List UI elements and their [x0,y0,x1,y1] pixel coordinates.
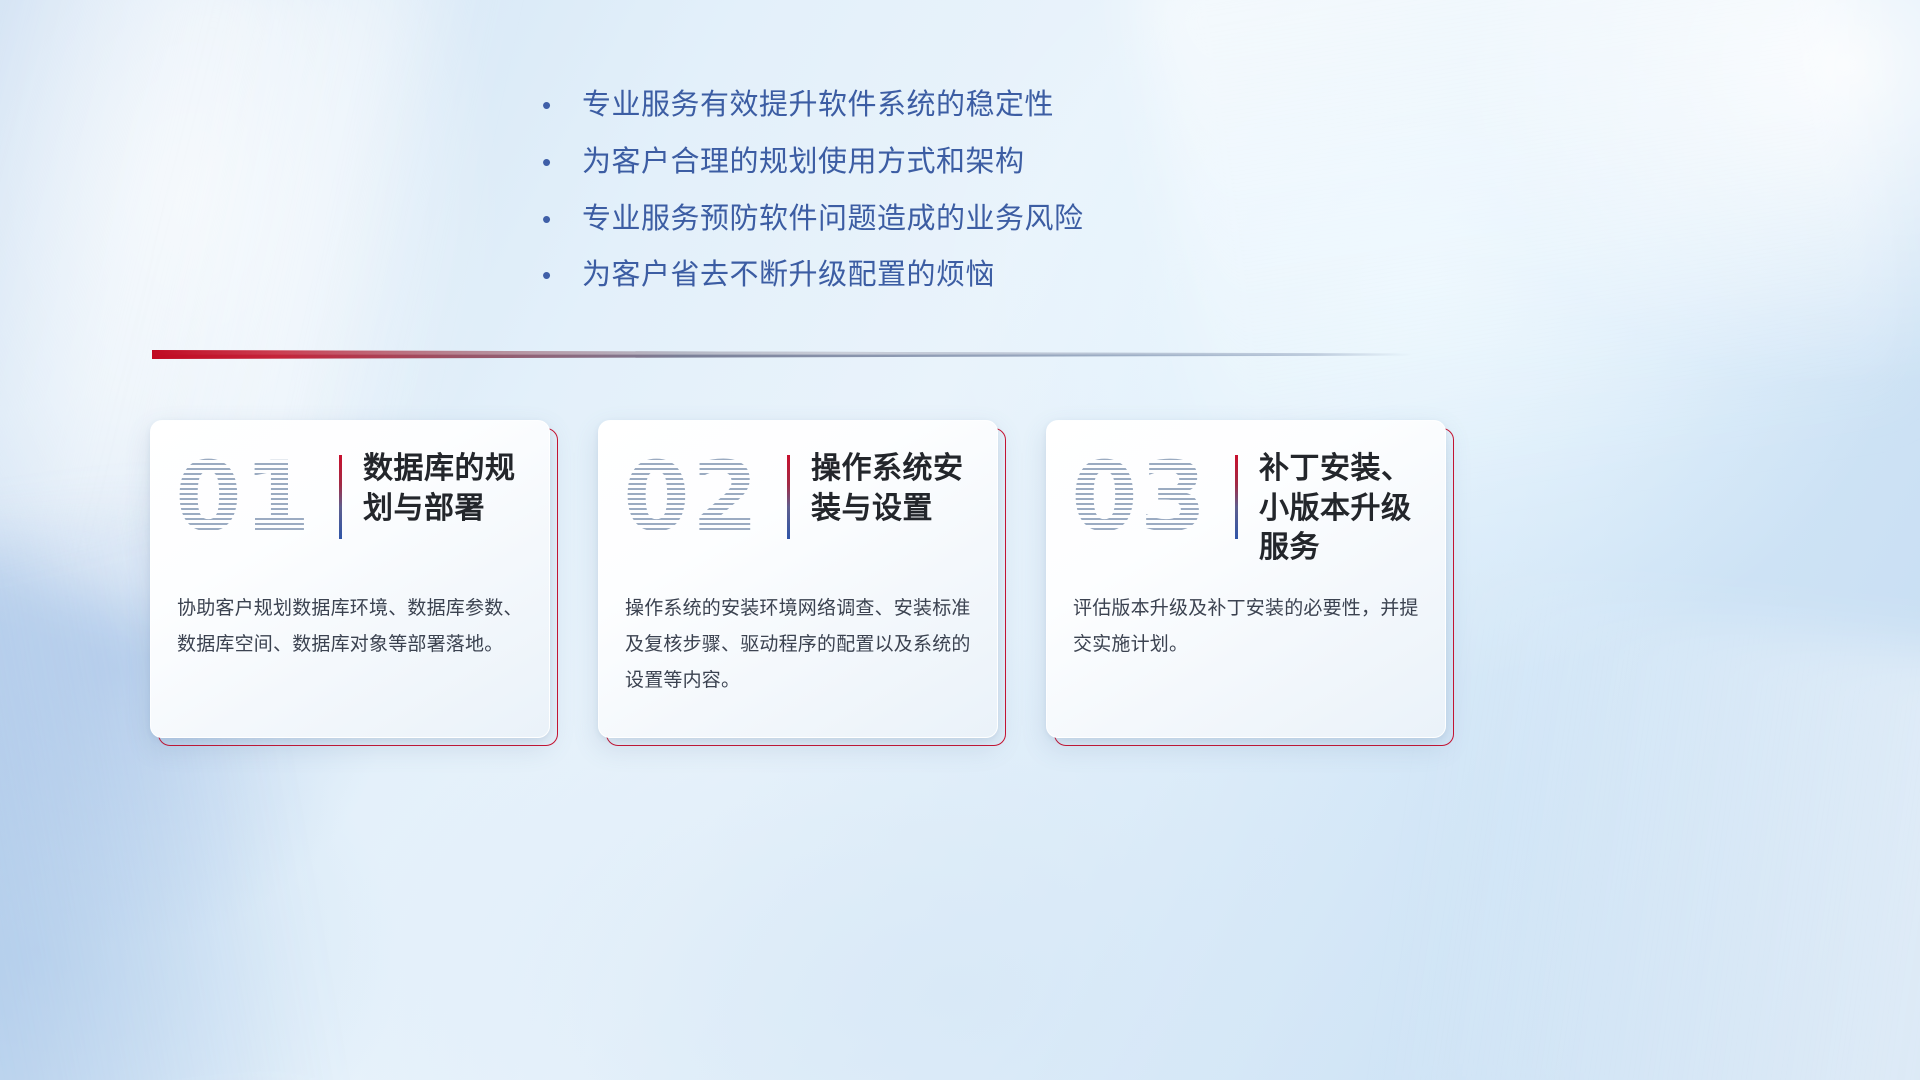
service-card-01[interactable]: 01 数据库的规划与部署 协助客户规划数据库环境、数据库参数、数据库空间、数据库… [150,420,550,738]
bullet-dot-icon: • [532,206,582,232]
service-card-group: 01 数据库的规划与部署 协助客户规划数据库环境、数据库参数、数据库空间、数据库… [150,420,1470,738]
bullet-text: 为客户省去不断升级配置的烦恼 [582,258,995,293]
card-title: 数据库的规划与部署 [363,449,531,528]
card-divider-rule [1235,455,1238,539]
bullet-text: 专业服务预防软件问题造成的业务风险 [582,202,1084,237]
service-card-03[interactable]: 03 补丁安装、小版本升级服务 评估版本升级及补丁安装的必要性，并提交实施计划。 [1046,420,1446,738]
card-divider-rule [787,455,790,539]
card-number-watermark: 03 [1071,443,1221,551]
benefits-bullet-list: • 专业服务有效提升软件系统的稳定性 • 为客户合理的规划使用方式和架构 • 专… [532,88,1292,315]
card-surface: 03 补丁安装、小版本升级服务 评估版本升级及补丁安装的必要性，并提交实施计划。 [1046,420,1446,738]
bullet-text: 为客户合理的规划使用方式和架构 [582,145,1025,180]
card-body-text: 评估版本升级及补丁安装的必要性，并提交实施计划。 [1073,591,1425,663]
list-item: • 专业服务有效提升软件系统的稳定性 [532,88,1292,123]
bullet-dot-icon: • [532,262,582,288]
slide-canvas: • 专业服务有效提升软件系统的稳定性 • 为客户合理的规划使用方式和架构 • 专… [0,0,1920,1080]
section-divider [152,344,1412,368]
card-title: 补丁安装、小版本升级服务 [1259,449,1427,568]
card-number-watermark: 01 [175,443,325,551]
bullet-text: 专业服务有效提升软件系统的稳定性 [582,88,1054,123]
card-number-watermark: 02 [623,443,773,551]
service-card-02[interactable]: 02 操作系统安装与设置 操作系统的安装环境网络调查、安装标准及复核步骤、驱动程… [598,420,998,738]
card-header: 02 操作系统安装与设置 [599,421,997,573]
card-header: 01 数据库的规划与部署 [151,421,549,573]
list-item: • 为客户省去不断升级配置的烦恼 [532,258,1292,293]
card-body-text: 操作系统的安装环境网络调查、安装标准及复核步骤、驱动程序的配置以及系统的设置等内… [625,591,977,699]
card-divider-rule [339,455,342,539]
card-surface: 01 数据库的规划与部署 协助客户规划数据库环境、数据库参数、数据库空间、数据库… [150,420,550,738]
list-item: • 专业服务预防软件问题造成的业务风险 [532,202,1292,237]
card-header: 03 补丁安装、小版本升级服务 [1047,421,1445,573]
card-surface: 02 操作系统安装与设置 操作系统的安装环境网络调查、安装标准及复核步骤、驱动程… [598,420,998,738]
bullet-dot-icon: • [532,92,582,118]
list-item: • 为客户合理的规划使用方式和架构 [532,145,1292,180]
bullet-dot-icon: • [532,149,582,175]
card-body-text: 协助客户规划数据库环境、数据库参数、数据库空间、数据库对象等部署落地。 [177,591,529,663]
card-title: 操作系统安装与设置 [811,449,979,528]
